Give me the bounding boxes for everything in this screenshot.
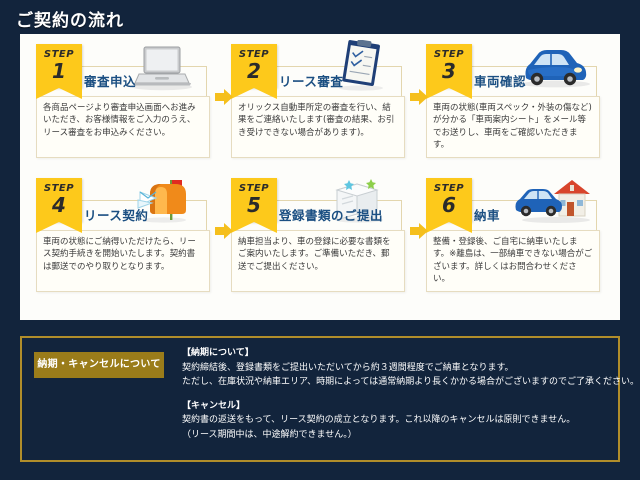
step-badge-number: 5 xyxy=(231,195,277,216)
step-badge-3: STEP 3 xyxy=(426,44,472,88)
delivery-line-1: 契約締結後、登録書類をご提出いただいてから約３週間程度でご納車となります。 xyxy=(182,361,612,376)
flow-arrow-icon xyxy=(408,86,430,108)
step-title-1: 審査申込 xyxy=(84,71,212,90)
step-title-5: 登録書類のご提出 xyxy=(279,205,407,224)
step-badge-number: 1 xyxy=(36,61,82,82)
step-description-4: 車両の状態にご納得いただけたら、リース契約手続きを開始いたします。契約書は郵送で… xyxy=(36,230,210,292)
step-title-2: リース審査 xyxy=(279,71,407,90)
steps-grid: STEP 1 審査申込 各商品ページより審査申込画面へお進みいただき、お客様情報… xyxy=(20,34,620,320)
step-title-4: リース契約 xyxy=(84,205,212,224)
step-description-3: 車両の状態(車両スペック・外装の傷など)が分かる「車両案内シート」をメール等でお… xyxy=(426,96,600,158)
cancel-line-1: 契約書の返送をもって、リース契約の成立となります。これ以降のキャンセルは原則でき… xyxy=(182,413,612,428)
step-description-5: 納車担当より、車の登録に必要な書類をご案内いたします。ご準備いただき、郵送でご提… xyxy=(231,230,405,292)
step-badge-6: STEP 6 xyxy=(426,178,472,222)
notice-panel: 納期・キャンセルについて 【納期について】 契約締結後、登録書類をご提出いただい… xyxy=(20,336,620,462)
step-title-6: 納車 xyxy=(474,205,602,224)
contract-flow-page: ご契約の流れ STEP 1 xyxy=(0,0,640,480)
notice-body: 【納期について】 契約締結後、登録書類をご提出いただいてから約３週間程度でご納車… xyxy=(182,346,612,442)
step-badge-5: STEP 5 xyxy=(231,178,277,222)
step-badge-2: STEP 2 xyxy=(231,44,277,88)
cancel-line-2: （リース期間中は、中途解約できません。） xyxy=(182,428,612,443)
step-badge-1: STEP 1 xyxy=(36,44,82,88)
step-description-6: 整備・登録後、ご自宅に納車いたします。※離島は、一部納車できない場合がございます… xyxy=(426,230,600,292)
flow-arrow-icon xyxy=(408,220,430,242)
step-description-1: 各商品ページより審査申込画面へお進みいただき、お客様情報をご入力のうえ、リース審… xyxy=(36,96,210,158)
step-card-4: STEP 4 リース契約 xyxy=(30,174,216,302)
flow-arrow-icon xyxy=(213,86,235,108)
step-badge-number: 2 xyxy=(231,61,277,82)
delivery-line-2: ただし、在庫状況や納車エリア、時期によっては通常納期より長くかかる場合がございま… xyxy=(182,375,612,390)
step-badge-4: STEP 4 xyxy=(36,178,82,222)
step-card-5: STEP 5 xyxy=(225,174,411,302)
cancel-heading: 【キャンセル】 xyxy=(182,399,612,414)
step-badge-number: 4 xyxy=(36,195,82,216)
step-card-2: STEP 2 xyxy=(225,40,411,168)
flow-arrow-icon xyxy=(213,220,235,242)
delivery-heading: 【納期について】 xyxy=(182,346,612,361)
step-card-3: STEP 3 xyxy=(420,40,606,168)
step-title-3: 車両確認 xyxy=(474,71,602,90)
notice-label: 納期・キャンセルについて xyxy=(34,352,164,378)
step-card-6: STEP 6 xyxy=(420,174,606,302)
notice-spacer xyxy=(182,390,612,399)
step-description-2: オリックス自動車所定の審査を行い、結果をご連絡いたします(審査の結果、お引き受け… xyxy=(231,96,405,158)
flow-panel: STEP 1 審査申込 各商品ページより審査申込画面へお進みいただき、お客様情報… xyxy=(20,34,620,320)
step-badge-number: 6 xyxy=(426,195,472,216)
step-card-1: STEP 1 審査申込 各商品ページより審査申込画面へお進みいただき、お客様情報… xyxy=(30,40,216,168)
page-title: ご契約の流れ xyxy=(16,6,124,31)
step-badge-number: 3 xyxy=(426,61,472,82)
